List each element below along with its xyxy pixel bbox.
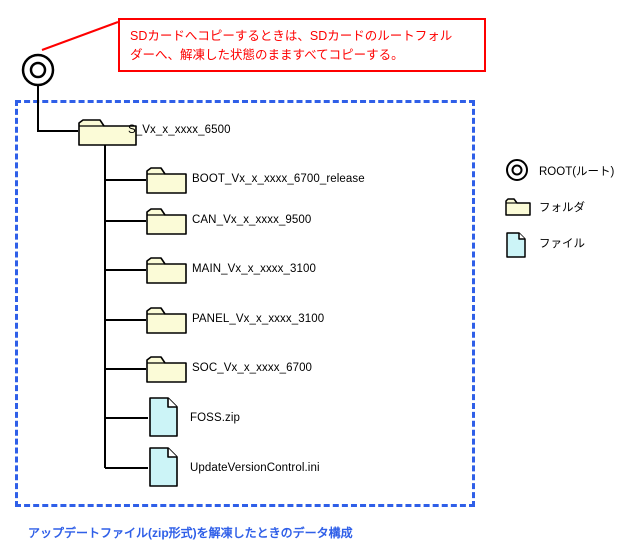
folder-icon [146,165,188,195]
folder-icon [505,197,531,217]
folder-icon [146,255,188,285]
unzipped-data-container [15,100,475,507]
legend-item-folder: フォルダ [503,194,638,230]
tree-node-label: PANEL_Vx_x_xxxx_3100 [192,313,324,325]
callout-text: SDカードへコピーするときは、SDカードのルートフォル ダーへ、解凍した状態のま… [130,27,478,65]
folder-icon [146,206,188,236]
callout-box: SDカードへコピーするときは、SDカードのルートフォル ダーへ、解凍した状態のま… [118,18,486,72]
legend: ROOT(ルート) フォルダ ファイル [503,158,638,266]
diagram-canvas: SDカードへコピーするときは、SDカードのルートフォル ダーへ、解凍した状態のま… [0,0,640,560]
file-icon [148,396,180,438]
leader-line-icon [40,20,120,52]
folder-icon [146,305,188,335]
tree-node-label: MAIN_Vx_x_xxxx_3100 [192,263,316,275]
root-circle-icon [505,158,529,182]
diagram-caption: アップデートファイル(zip形式)を解凍したときのデータ構成 [28,524,353,541]
file-icon [505,231,527,259]
tree-node-label: CAN_Vx_x_xxxx_9500 [192,214,311,226]
legend-item-root: ROOT(ルート) [503,158,638,194]
folder-icon [146,354,188,384]
file-icon [148,446,180,488]
tree-node-label: UpdateVersionControl.ini [190,462,320,474]
tree-node-label: SOC_Vx_x_xxxx_6700 [192,362,312,374]
legend-label: ファイル [539,235,585,251]
tree-node-label: FOSS.zip [190,412,240,424]
root-circle-icon [21,53,55,87]
legend-label: ROOT(ルート) [539,163,614,179]
legend-label: フォルダ [539,199,585,215]
tree-node-label: BOOT_Vx_x_xxxx_6700_release [192,173,365,185]
legend-item-file: ファイル [503,230,638,266]
tree-node-label: S_Vx_x_xxxx_6500 [128,124,231,136]
